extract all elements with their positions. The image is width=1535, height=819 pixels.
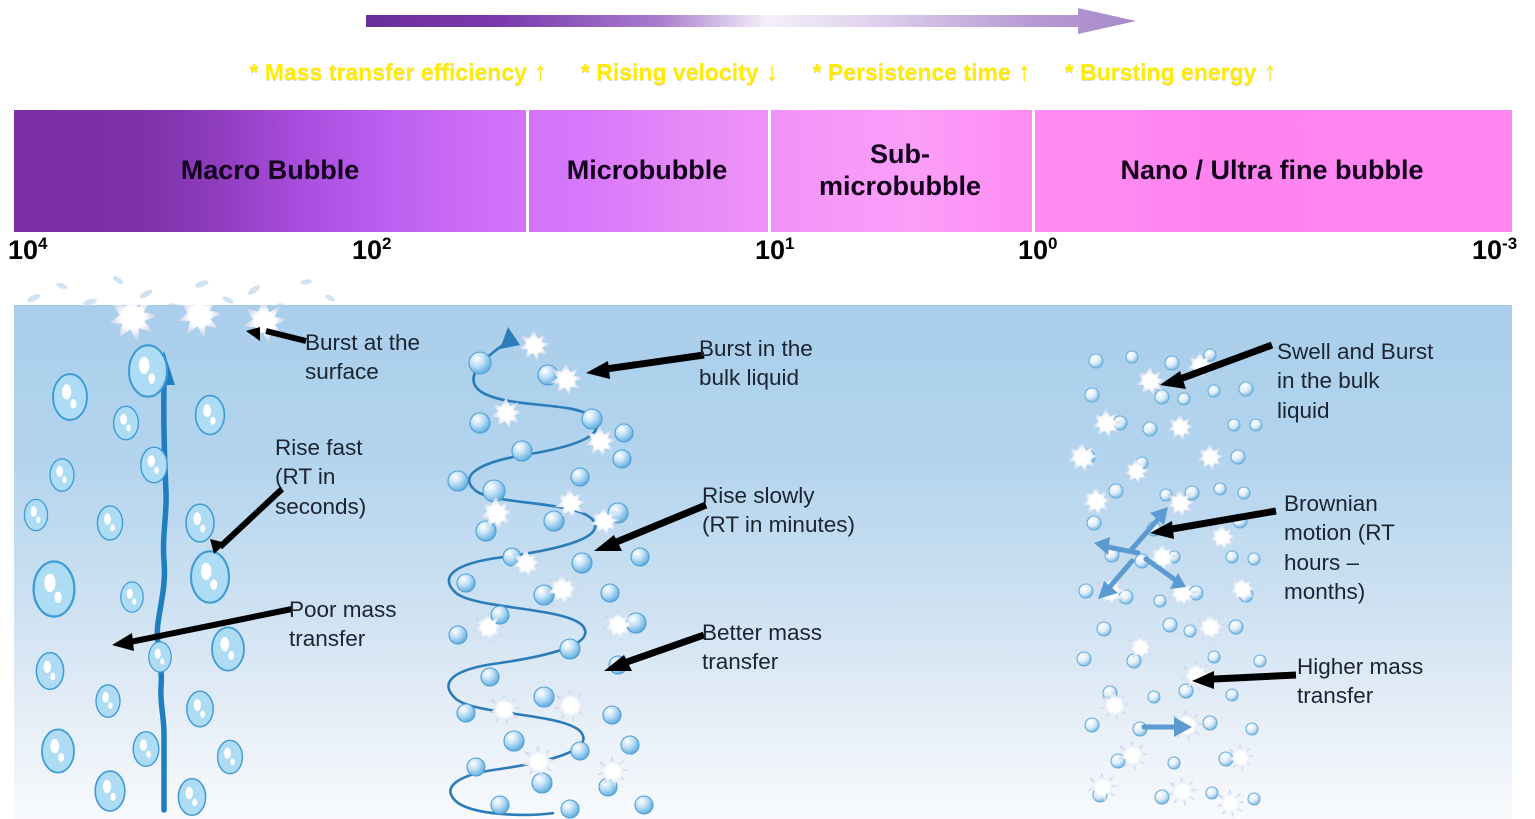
- macro-bubble-column: [24, 305, 306, 815]
- note-swell-and-burst: Swell and Burst in the bulk liquid: [1277, 337, 1433, 425]
- arrow-brownian-motion: [1150, 511, 1276, 539]
- category-sub-microbubble: Sub- microbubble: [768, 110, 1032, 232]
- category-microbubble: Microbubble: [526, 110, 768, 232]
- property-banner: * Mass transfer efficiency ↑ * Rising ve…: [14, 36, 1512, 108]
- bubble-category-bar: Macro Bubble Microbubble Sub- microbubbl…: [14, 110, 1512, 232]
- property-item-mass-transfer: * Mass transfer efficiency ↑: [233, 59, 564, 86]
- property-label: * Rising velocity: [581, 59, 759, 86]
- micro-bubble-group: [448, 352, 653, 818]
- axis-tick-1e2: 102: [352, 234, 392, 266]
- property-item-bursting-energy: * Bursting energy ↑: [1048, 59, 1294, 86]
- property-item-rising-velocity: * Rising velocity ↓: [564, 59, 796, 86]
- note-rise-fast: Rise fast (RT in seconds): [275, 433, 366, 521]
- note-better-mass-transfer: Better mass transfer: [702, 618, 822, 677]
- property-label: * Mass transfer efficiency: [250, 59, 527, 86]
- trend-up-icon: ↑: [534, 58, 547, 84]
- axis-tick-1e4: 104: [8, 234, 48, 266]
- microbubble-column: [448, 327, 706, 818]
- note-burst-in-bulk-liquid: Burst in the bulk liquid: [699, 334, 813, 393]
- property-item-persistence-time: * Persistence time ↑: [796, 59, 1048, 86]
- category-label: Sub- microbubble: [819, 139, 981, 203]
- axis-tick-1e0: 100: [1018, 234, 1058, 266]
- note-poor-mass-transfer: Poor mass transfer: [289, 595, 397, 654]
- category-label: Microbubble: [567, 155, 728, 187]
- note-burst-at-surface: Burst at the surface: [305, 328, 420, 387]
- property-label: * Bursting energy: [1065, 59, 1257, 86]
- note-brownian-motion: Brownian motion (RT hours – months): [1284, 489, 1395, 606]
- axis-tick-1e1: 101: [755, 234, 795, 266]
- category-label: Nano / Ultra fine bubble: [1120, 155, 1423, 187]
- nanobubble-column: [1066, 345, 1296, 818]
- macro-bubble-group: [24, 345, 244, 815]
- surface-burst-group: [108, 305, 287, 344]
- property-label: * Persistence time: [813, 59, 1011, 86]
- trend-up-icon: ↑: [1263, 58, 1276, 84]
- category-label: Macro Bubble: [181, 155, 360, 187]
- trend-arrow: [366, 8, 1136, 34]
- trend-up-icon: ↑: [1018, 58, 1031, 84]
- nano-pointer-arrows: [1150, 345, 1296, 689]
- axis-tick-1e-3: 10-3: [1472, 234, 1517, 266]
- arrow-better-mass-transfer: [604, 635, 704, 671]
- arrow-rise-fast: [210, 489, 282, 554]
- size-axis: 104 102 101 100 10-3: [0, 234, 1535, 276]
- arrow-poor-mass-transfer: [112, 609, 292, 651]
- category-macro-bubble: Macro Bubble: [14, 110, 526, 232]
- arrow-burst-in-bulk: [586, 355, 704, 379]
- nano-burst-group: [1066, 351, 1256, 817]
- note-higher-mass-transfer: Higher mass transfer: [1297, 652, 1423, 711]
- category-nano-ultra-fine-bubble: Nano / Ultra fine bubble: [1032, 110, 1512, 232]
- trend-down-icon: ↓: [766, 58, 779, 84]
- note-rise-slowly: Rise slowly (RT in minutes): [702, 481, 855, 540]
